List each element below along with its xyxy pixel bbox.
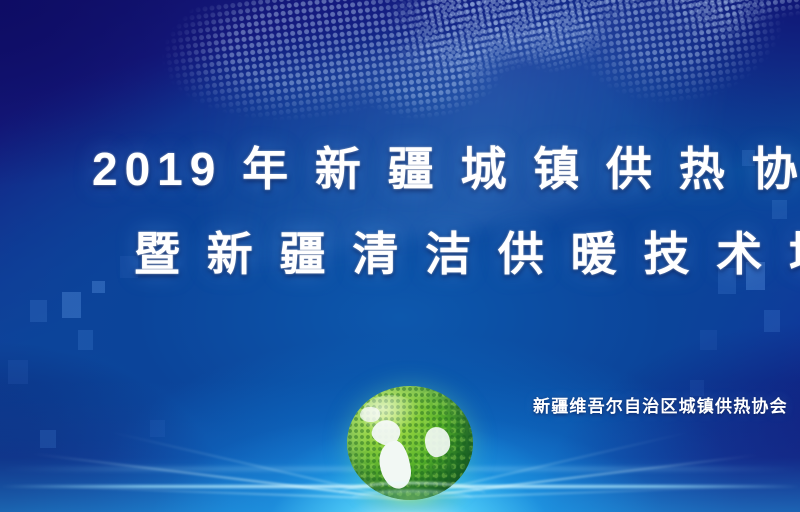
decor-square [92,281,105,293]
decor-square [30,300,47,322]
decor-square [772,200,787,219]
conference-banner: 2019 年 新 疆 城 镇 供 热 协 会 年 会 暨 新 疆 清 洁 供 暖… [0,0,800,512]
globe-graphic [345,386,477,512]
decor-square [8,360,28,384]
water-splash [351,490,473,508]
continent-shape [424,426,452,458]
decor-square [62,292,81,318]
organization-name: 新疆维吾尔自治区城镇供热协会 [533,392,788,417]
banner-title-line-2: 暨 新 疆 清 洁 供 暖 技 术 培 训 [134,228,800,280]
continent-shape [360,407,380,423]
decor-square [78,330,93,350]
decor-square [700,330,717,350]
banner-title-line-1: 2019 年 新 疆 城 镇 供 热 协 会 年 会 [92,143,800,195]
decor-square [764,310,780,332]
